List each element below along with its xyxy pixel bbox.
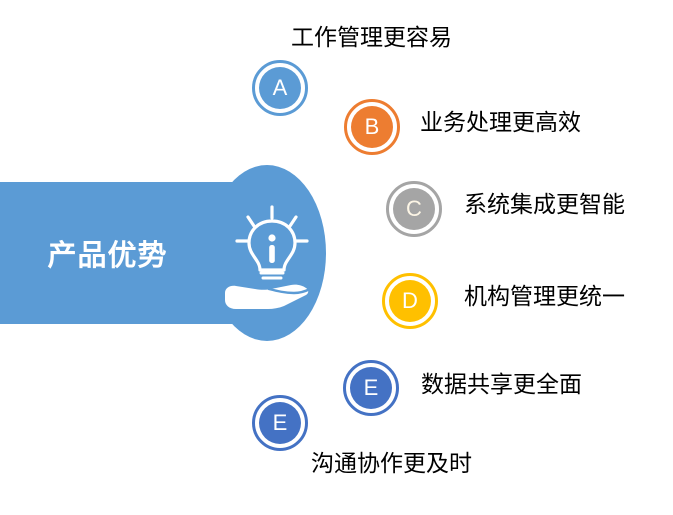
lightbulb-in-hand-icon <box>222 205 322 310</box>
badge-letter-a: A <box>259 67 301 109</box>
badge-circle-b-icon[interactable]: B <box>344 99 400 155</box>
badge-circle-a-icon[interactable]: A <box>252 60 308 116</box>
badge-letter-b: B <box>351 106 393 148</box>
advantage-label-b: 业务处理更高效 <box>420 111 581 134</box>
badge-circle-c-icon[interactable]: C <box>386 181 442 237</box>
advantage-label-e: 数据共享更全面 <box>421 373 582 396</box>
badge-circle-e-icon[interactable]: E <box>343 360 399 416</box>
badge-letter-d: D <box>389 280 431 322</box>
badge-circle-f-icon[interactable]: E <box>252 395 308 451</box>
product-advantage-banner: 产品优势 <box>0 165 330 341</box>
infographic-canvas: 产品优势 A 工作管理更容易 <box>0 0 673 515</box>
badge-letter-e: E <box>350 367 392 409</box>
badge-letter-c: C <box>393 188 435 230</box>
banner-title: 产品优势 <box>0 182 215 324</box>
advantage-label-d: 机构管理更统一 <box>464 285 625 308</box>
badge-letter-f: E <box>259 402 301 444</box>
advantage-label-a: 工作管理更容易 <box>291 26 452 49</box>
badge-circle-d-icon[interactable]: D <box>382 273 438 329</box>
advantage-label-c: 系统集成更智能 <box>464 193 625 216</box>
advantage-label-f: 沟通协作更及时 <box>311 452 472 475</box>
